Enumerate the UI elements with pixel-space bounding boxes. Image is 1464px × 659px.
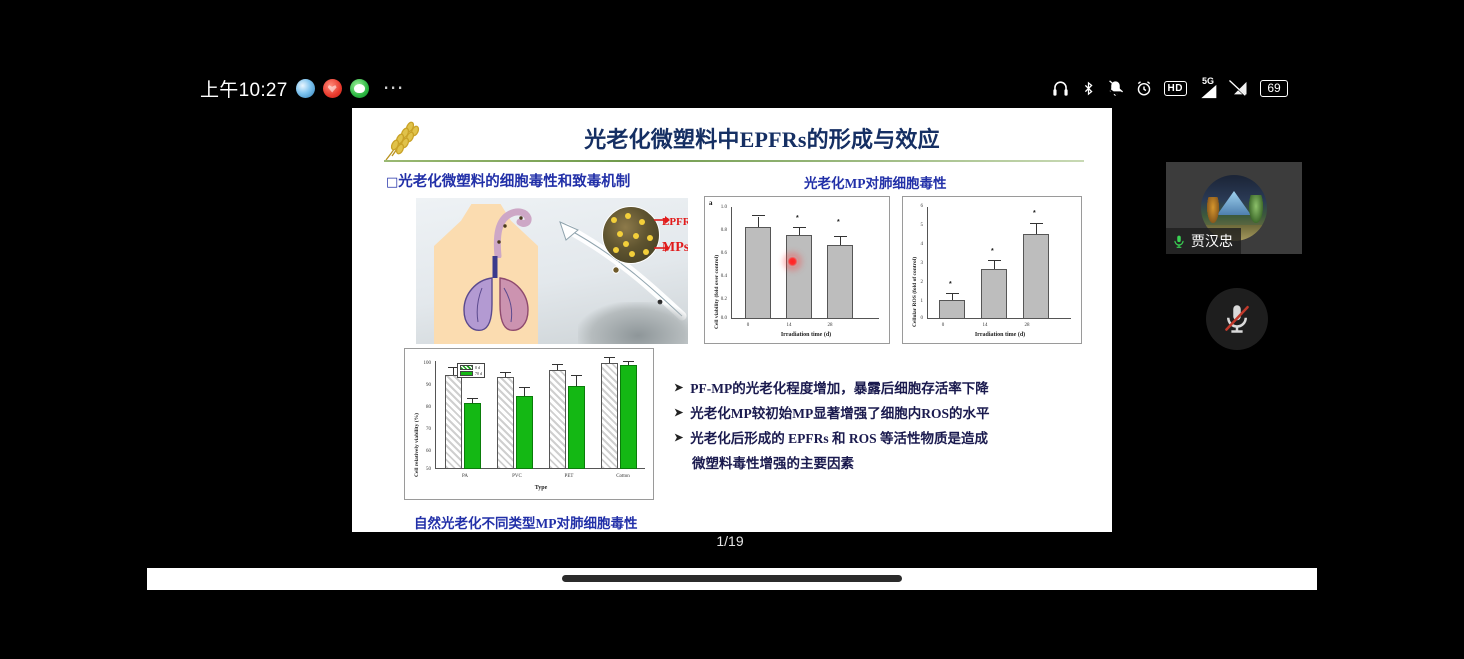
bullet-item: ➤ 光老化后形成的 EPFRs 和 ROS 等活性物质是造成 (674, 426, 1094, 451)
error-cap (946, 293, 959, 294)
chart-a-ytick: 0.4 (715, 274, 727, 279)
arrow-bullet-icon: ➤ (674, 401, 683, 426)
cell-relative-viability-chart: Cell relatively viability (%) 100 90 80 … (404, 348, 654, 500)
microphone-icon (1172, 233, 1186, 250)
arrow-bullet-icon: ➤ (674, 376, 683, 401)
chart-c-y-axis (435, 361, 436, 469)
section-heading-left: □光老化微塑料的细胞毒性和致毒机制 (386, 170, 630, 191)
bullet-list: ➤ PF-MP的光老化程度增加，暴露后细胞存活率下降 ➤ 光老化MP较初始MP显… (674, 376, 1094, 476)
error-cap (552, 364, 563, 365)
legend-swatch-green (460, 371, 473, 376)
chart-b-xtick: 28 (1014, 323, 1040, 328)
bullet-text: 光老化MP较初始MP显著增强了细胞内ROS的水平 (690, 401, 989, 426)
page-indicator-text: 1/19 (716, 533, 743, 549)
chart-a-ytick: 0.6 (715, 251, 727, 256)
error-cap (519, 387, 530, 388)
chart-c-plot: 0 d 70 d (435, 361, 645, 469)
error-cap (467, 398, 478, 399)
bullet-item: ➤ PF-MP的光老化程度增加，暴露后细胞存活率下降 (674, 376, 1094, 401)
legend-label: 70 d (475, 371, 482, 376)
chart-a-ytick: 0.2 (715, 297, 727, 302)
error-cap (752, 215, 765, 216)
chart-b-ytick: 3 (913, 261, 923, 266)
legend-label: 0 d (475, 365, 480, 370)
chart-a-ytick: 0.8 (715, 228, 727, 233)
alarm-app-dot-icon (323, 79, 342, 98)
bar (620, 365, 637, 469)
airway-shape (488, 206, 532, 258)
avatar-mountain-shape (1217, 191, 1251, 215)
bar (981, 269, 1007, 319)
chart-a-plot: * * (731, 207, 879, 319)
bar (497, 377, 514, 469)
chart-c-xlabel: Type (435, 485, 647, 491)
chart-c-ytick: 90 (417, 383, 431, 388)
panel-tag-a: a (709, 199, 713, 207)
chart-b-xtick: 0 (930, 323, 956, 328)
bullet-text-continuation: 微塑料毒性增强的主要因素 (692, 451, 1094, 476)
chart-b-ytick: 2 (913, 280, 923, 285)
chart-c-legend: 0 d 70 d (457, 363, 485, 378)
chart-b-y-axis (927, 207, 928, 319)
lung-exposure-illustration: EPFRs MPs (416, 198, 688, 344)
chart-a-ytick: 1.0 (715, 205, 727, 210)
lungs-shape (458, 254, 536, 334)
notifications-muted-icon (1107, 79, 1124, 98)
error-bar (505, 373, 506, 377)
legend-item: 0 d (460, 365, 482, 370)
cellular-ros-chart: Cellular ROS (fold of control) 6 5 4 3 2… (902, 196, 1082, 344)
system-navigation-bar (147, 568, 1317, 590)
bar (568, 386, 585, 469)
title-divider (384, 160, 1084, 162)
significance-marker: * (1033, 210, 1036, 217)
chart-b-ytick: 6 (913, 204, 923, 209)
status-bar-left: 上午10:27 ⋯ (200, 75, 406, 102)
error-cap (834, 236, 847, 237)
chart-b-ytick: 5 (913, 223, 923, 228)
significance-marker: * (949, 281, 952, 288)
microphone-muted-button[interactable] (1206, 288, 1268, 350)
microplastic-particle-zoom (602, 206, 660, 264)
chart-a-xlabel: Irradiation time (d) (731, 332, 881, 338)
page-indicator: 1/19 (0, 533, 1464, 549)
chart-b-ytick: 1 (913, 299, 923, 304)
chart-a-y-axis (731, 207, 732, 319)
microphone-muted-icon (1222, 302, 1252, 336)
bar (786, 235, 812, 319)
chart-b-xlabel: Irradiation time (d) (927, 332, 1073, 338)
bullet-text: 光老化后形成的 EPFRs 和 ROS 等活性物质是造成 (690, 426, 988, 451)
error-bar (576, 376, 577, 386)
bar (827, 245, 853, 319)
wheat-icon (380, 120, 426, 164)
error-bar (524, 388, 525, 396)
headphones-icon (1051, 79, 1070, 98)
chart-c-ytick: 80 (417, 405, 431, 410)
arrow-bullet-icon: ➤ (674, 426, 683, 451)
chart-c-xtick: PET (557, 474, 581, 479)
error-cap (604, 357, 615, 358)
avatar-tree-shape (1207, 197, 1219, 223)
bullet-item: ➤ 光老化MP较初始MP显著增强了细胞内ROS的水平 (674, 401, 1094, 426)
alarm-icon (1135, 79, 1153, 98)
bar (445, 375, 462, 469)
status-bar: 上午10:27 ⋯ (0, 68, 1464, 108)
home-indicator[interactable] (562, 575, 902, 582)
chart-b-plot: * * * (927, 207, 1071, 319)
error-bar (1036, 224, 1037, 234)
bar (516, 396, 533, 469)
mps-label: MPs (662, 240, 688, 256)
error-cap (988, 260, 1001, 261)
chart-c-xtick: PVC (505, 474, 529, 479)
chart-b-xtick: 14 (972, 323, 998, 328)
chart-c-ytick: 60 (417, 449, 431, 454)
chart-c-ytick: 50 (417, 467, 431, 472)
error-bar (628, 361, 629, 365)
smoke-shape (578, 302, 688, 344)
section-heading-left-text: 光老化微塑料的细胞毒性和致毒机制 (398, 174, 630, 190)
chart-a-xtick: 14 (776, 323, 802, 328)
more-notifications-icon: ⋯ (383, 83, 406, 93)
significance-marker: * (991, 248, 994, 255)
error-cap (623, 361, 634, 362)
error-bar (557, 365, 558, 370)
bar (1023, 234, 1049, 319)
bar (601, 363, 618, 469)
error-bar (472, 399, 473, 403)
error-cap (500, 372, 511, 373)
chart-c-ytick: 70 (417, 427, 431, 432)
chart-c-xtick: Cotton (609, 474, 637, 479)
error-bar (758, 217, 759, 227)
participant-video-tile[interactable]: 贾汉忠 (1166, 162, 1302, 254)
error-cap (1030, 223, 1043, 224)
bar (939, 300, 965, 319)
error-bar (799, 227, 800, 235)
slide-title: 光老化微塑料中EPFRs的形成与效应 (432, 122, 1092, 154)
wechat-dot-icon (350, 79, 369, 98)
chart-b-ytick: 0 (913, 316, 923, 321)
chart-c-caption: 自然光老化不同类型MP对肺细胞毒性 (414, 512, 638, 532)
status-time: 上午10:27 (200, 75, 288, 102)
laser-pointer-dot (787, 256, 798, 267)
error-cap (793, 227, 806, 228)
hd-badge-icon: HD (1164, 81, 1187, 96)
bar (464, 403, 481, 469)
bullet-text: PF-MP的光老化程度增加，暴露后细胞存活率下降 (690, 376, 988, 401)
chart-c-xtick: PA (453, 474, 477, 479)
chart-a-xtick: 28 (817, 323, 843, 328)
error-bar (609, 357, 610, 363)
browser-dot-icon (296, 79, 315, 98)
phone-screen: 上午10:27 ⋯ (0, 0, 1464, 659)
bar (745, 227, 771, 319)
error-bar (840, 236, 841, 245)
error-bar (994, 261, 995, 269)
error-bar (952, 294, 953, 300)
bar (549, 370, 566, 469)
status-bar-right: HD 5G 69 (1051, 77, 1288, 99)
cell-viability-chart: a Cell viability (fold over control) 1.0… (704, 196, 890, 344)
chart-a-xtick: 0 (735, 323, 761, 328)
bluetooth-icon (1081, 79, 1096, 98)
significance-marker: * (837, 219, 840, 226)
5g-signal-icon: 5G (1198, 77, 1218, 99)
section-heading-right: 光老化MP对肺细胞毒性 (804, 172, 947, 192)
legend-swatch-hatched (460, 365, 473, 370)
battery-badge: 69 (1260, 80, 1288, 97)
square-bullet-icon: □ (386, 175, 398, 190)
legend-item: 70 d (460, 371, 482, 376)
error-bar (453, 368, 454, 375)
participant-name-bar: 贾汉忠 (1166, 228, 1241, 254)
chart-c-ytick: 100 (417, 361, 431, 366)
participant-name: 贾汉忠 (1191, 231, 1233, 251)
chart-b-ytick: 4 (913, 242, 923, 247)
presentation-slide[interactable]: 光老化微塑料中EPFRs的形成与效应 □光老化微塑料的细胞毒性和致毒机制 光老化… (352, 108, 1112, 532)
chart-a-ytick: 0.0 (715, 316, 727, 321)
avatar-tree-shape (1249, 195, 1263, 223)
epfrs-label: EPFRs (662, 216, 688, 228)
significance-marker: * (796, 215, 799, 222)
error-cap (571, 375, 582, 376)
signal-off-icon (1229, 80, 1249, 97)
